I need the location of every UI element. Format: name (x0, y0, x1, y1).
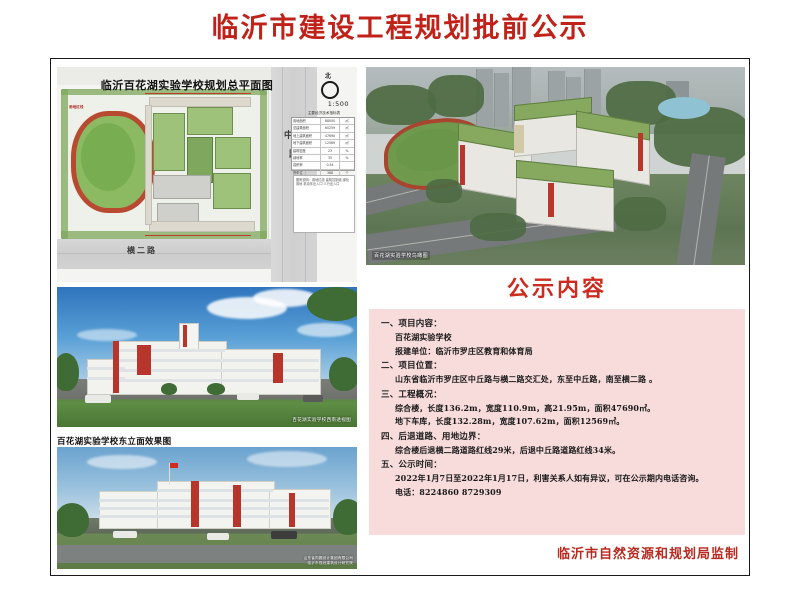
car (207, 533, 229, 540)
tree-cluster (426, 179, 462, 203)
red-accent (233, 485, 241, 527)
tree-cluster (366, 85, 436, 125)
car (85, 395, 111, 403)
aerial-render-figure: 百花湖实验学校鸟瞰图 (366, 67, 745, 265)
facade-band (87, 367, 125, 370)
site-plan-title: 临沂百花湖实验学校规划总平面图 (87, 77, 287, 93)
elevation-wing-left (99, 491, 163, 529)
flag (170, 463, 178, 468)
building-block-f (213, 173, 251, 209)
red-accent (273, 353, 283, 383)
path-central (145, 105, 152, 225)
notice-section-line: 2022年1月7日至2022年1月17日，利害关系人如有异议，可在公示期内电话咨… (381, 472, 735, 486)
tree (57, 353, 79, 391)
table-row: 用地面积88000㎡ (292, 118, 354, 125)
pond (658, 97, 710, 119)
tree (57, 503, 89, 537)
facade-band (113, 369, 225, 372)
page-title: 临沂市建设工程规划批前公示 (0, 12, 800, 46)
building-block-d (215, 137, 251, 169)
table-row: 容积率0.54 (292, 162, 354, 169)
perspective-right-block (221, 349, 321, 395)
scale-label: 1:500 (328, 100, 349, 108)
notice-heading: 公示内容 (369, 271, 745, 303)
notice-section-head: 三、工程概况： (381, 388, 735, 402)
facade-band (221, 359, 319, 362)
aerial-red-accent (548, 183, 554, 217)
perspective-tower (179, 323, 199, 351)
publicity-notice-page: 临沂市建设工程规划批前公示 (0, 0, 800, 603)
notice-section-5: 五、公示时间： 2022年1月7日至2022年1月17日，利害关系人如有异议，可… (381, 458, 735, 499)
red-accent (113, 341, 119, 393)
perspective-caption: 百花湖实验学校西南透视图 (292, 417, 351, 423)
site-plan-figure: 中丘路 横二路 用地红线 临沂百花湖实验学校规划总平面图 北 1:500 主要经… (57, 67, 357, 282)
notice-section-3: 三、工程概况： 综合楼，长度136.2m，宽度110.9m，高21.95m，面积… (381, 388, 735, 429)
cloud (247, 451, 327, 467)
table-row: 绿地率35% (292, 155, 354, 162)
notice-section-head: 二、项目位置： (381, 359, 735, 373)
compass-icon (321, 81, 339, 99)
notice-section-line: 山东省临沂市罗庄区中丘路与横二路交汇处，东至中丘路，南至横二路 。 (381, 373, 735, 387)
issuer-signature: 临沂市自然资源和规划局监制 (557, 543, 739, 562)
aerial-caption: 百花湖实验学校鸟瞰图 (372, 251, 430, 260)
dimension-line-bottom (145, 235, 251, 236)
table-row: 建筑密度23% (292, 148, 354, 155)
car (113, 531, 137, 538)
table-row: 总建筑面积60259㎡ (292, 125, 354, 132)
building-block-a (153, 113, 185, 171)
page-title-bar: 临沂市建设工程规划批前公示 (0, 12, 800, 46)
perspective-lawn (57, 402, 357, 427)
facade-band (113, 349, 225, 352)
road-heng-er-label: 横二路 (127, 245, 157, 256)
tree-cluster (428, 75, 484, 117)
car (303, 395, 323, 402)
facade-band (113, 379, 225, 382)
facade-band (87, 377, 125, 380)
aerial-red-accent (460, 145, 465, 185)
indicator-table: 用地面积88000㎡ 总建筑面积60259㎡ 地上建筑面积47690㎡ 地下建筑… (291, 117, 355, 171)
notice-section-line: 报建单位：临沂市罗庄区教育和体育局 (381, 345, 735, 359)
shrub (161, 383, 177, 395)
plaza-north (149, 97, 251, 107)
tree (333, 499, 357, 535)
elevation-credit-line2: 临沂市规划建筑设计研究院 (304, 561, 353, 566)
sports-field (81, 123, 135, 191)
elevation-credit: 山东省同圆设计集团有限公司 临沂市规划建筑设计研究院 (304, 556, 353, 566)
notice-section-line: 综合楼后退横二路道路红线29米，后退中丘路道路红线34米。 (381, 444, 735, 458)
indicator-table-title: 主要经济技术指标表 (293, 111, 355, 116)
tree (329, 357, 357, 391)
facade-band (113, 359, 225, 362)
notice-section-2: 二、项目位置： 山东省临沂市罗庄区中丘路与横二路交汇处，东至中丘路，南至横二路 … (381, 359, 735, 387)
red-accent (137, 345, 151, 375)
notice-content-box: 一、项目内容： 百花湖实验学校 报建单位：临沂市罗庄区教育和体育局 二、项目位置… (369, 309, 745, 535)
facade-band (157, 489, 273, 492)
car (237, 393, 259, 400)
elevation-title: 百花湖实验学校东立面效果图 (57, 435, 171, 447)
green-belt-east (260, 89, 267, 239)
shrub (207, 383, 225, 395)
notice-section-line: 地下车库，长度132.28m，宽度107.62m，面积12569㎡。 (381, 415, 735, 429)
elevation-render-figure: 山东省同圆设计集团有限公司 临沂市规划建筑设计研究院 (57, 447, 357, 569)
tree-canopy (307, 287, 357, 321)
facade-band (221, 369, 319, 372)
cloud (87, 455, 157, 469)
red-accent (289, 493, 295, 527)
perspective-render-figure: 百花湖实验学校西南透视图 (57, 287, 357, 427)
notice-section-4: 四、后退道路、用地边界： 综合楼后退横二路道路红线29米，后退中丘路道路红线34… (381, 430, 735, 458)
notice-section-head: 一、项目内容： (381, 317, 735, 331)
red-accent (191, 481, 199, 527)
notice-section-1: 一、项目内容： 百花湖实验学校 报建单位：临沂市罗庄区教育和体育局 (381, 317, 735, 358)
building-block-e (153, 175, 211, 199)
site-red-line-label: 用地红线 (69, 105, 83, 110)
tree-cluster (470, 213, 526, 241)
table-row: 地下建筑面积12569㎡ (292, 140, 354, 147)
backdrop-tower (494, 73, 509, 127)
notice-section-head: 五、公示时间： (381, 458, 735, 472)
notice-section-line: 综合楼，长度136.2m，宽度110.9m，高21.95m，面积47690㎡。 (381, 402, 735, 416)
aerial-core-tower (514, 125, 524, 153)
cloud (77, 329, 137, 341)
plaza-south (149, 221, 255, 232)
legend-note: 图例说明：用地红线 建筑控制线 绿化用地 机动车出入口 人行出入口 (293, 175, 355, 233)
aerial-red-accent (638, 133, 643, 171)
notice-section-head: 四、后退道路、用地边界： (381, 430, 735, 444)
notice-section-line: 电话：8224860 8729309 (381, 486, 735, 500)
road-heng-er (57, 239, 271, 269)
dimension-line-top (145, 93, 251, 94)
green-belt-west (61, 89, 68, 239)
content-frame: 中丘路 横二路 用地红线 临沂百花湖实验学校规划总平面图 北 1:500 主要经… (50, 58, 750, 576)
building-block-g (157, 203, 199, 223)
north-label: 北 (325, 71, 331, 80)
facade-band (221, 379, 319, 382)
building-block-b (187, 107, 233, 135)
cloud (297, 323, 353, 337)
notice-section-line: 百花湖实验学校 (381, 331, 735, 345)
tree-cluster (614, 197, 666, 231)
red-accent (183, 325, 187, 347)
car (271, 531, 297, 539)
table-row: 地上建筑面积47690㎡ (292, 133, 354, 140)
